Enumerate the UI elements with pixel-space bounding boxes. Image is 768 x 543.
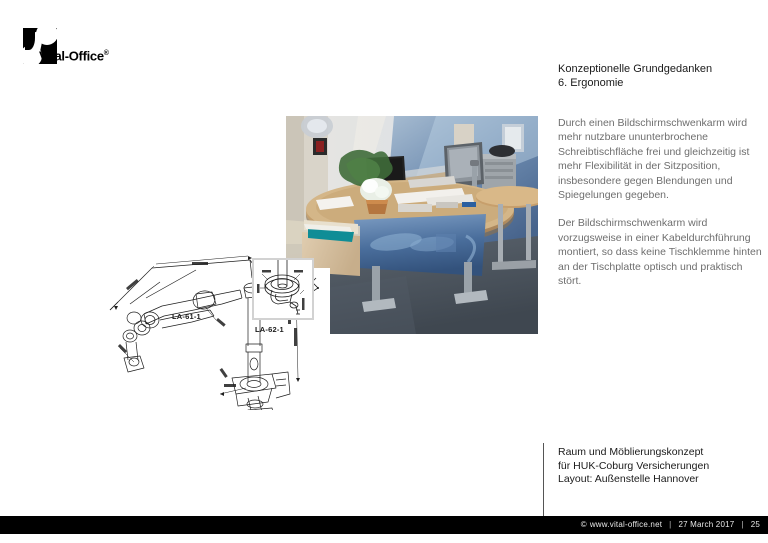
body-copy: Durch einen Bildschirmschwenkarm wird me…: [558, 116, 763, 288]
copyright-icon: ©: [581, 516, 587, 534]
page-number: 25: [751, 516, 760, 534]
body-paragraph-2: Der Bildschirmschwenkarm wird vorzugswei…: [558, 216, 763, 288]
logo-wordmark: Vital-Office®: [39, 47, 109, 63]
footer-divider: [543, 443, 544, 516]
bottom-bar: ©www.vital-office.net|27 March 2017|25: [0, 516, 768, 534]
registered-mark-icon: ®: [104, 50, 109, 57]
page-title-line-1: Konzeptionelle Grundgedanken: [558, 63, 763, 77]
project-info: Raum und Möblierungskonzept für HUK-Cobu…: [558, 446, 763, 487]
slide-date: 27 March 2017: [678, 516, 734, 534]
cable-grommet-mount-detail-icon: [252, 258, 314, 320]
body-paragraph-1: Durch einen Bildschirmschwenkarm wird me…: [558, 116, 763, 202]
logo-brand-name: Vital-Office: [39, 48, 104, 63]
page-title-line-2: 6. Ergonomie: [558, 77, 763, 91]
project-info-line-2: für HUK-Coburg Versicherungen: [558, 460, 763, 474]
slide-canvas: Vital-Office® Konzeptionelle Grundgedank…: [0, 0, 768, 543]
drawing-label-main: LA-61-1: [172, 312, 201, 321]
page-title: Konzeptionelle Grundgedanken 6. Ergonomi…: [558, 63, 763, 90]
project-info-line-1: Raum und Möblierungskonzept: [558, 446, 763, 460]
separator-2: |: [741, 516, 743, 534]
vital-office-logo[interactable]: Vital-Office®: [23, 28, 83, 64]
separator-1: |: [669, 516, 671, 534]
drawing-label-inset: LA-62-1: [255, 325, 284, 334]
bottom-bar-content: ©www.vital-office.net|27 March 2017|25: [581, 516, 760, 534]
project-info-line-3: Layout: Außenstelle Hannover: [558, 473, 763, 487]
website-link[interactable]: www.vital-office.net: [590, 516, 662, 534]
